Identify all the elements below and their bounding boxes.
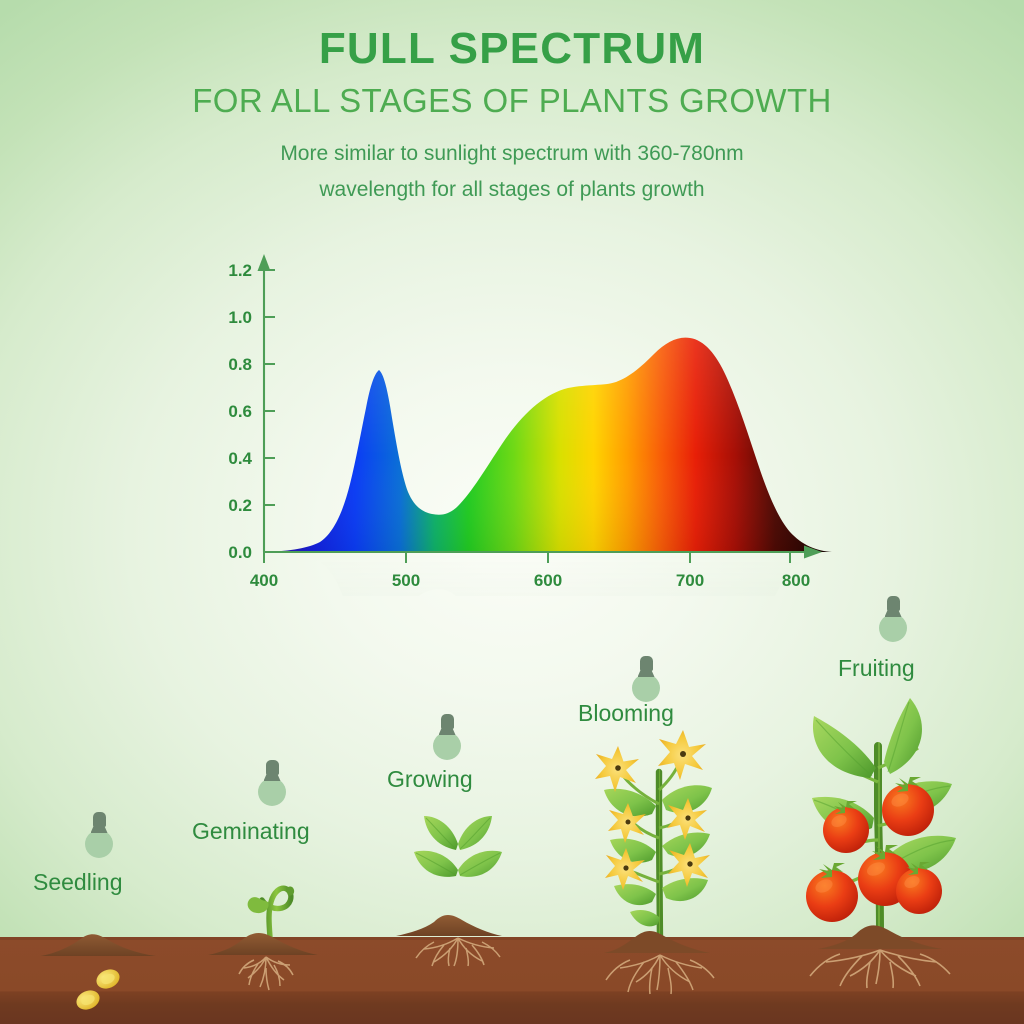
- y-tick-1: 0.2: [228, 496, 252, 515]
- x-tick-3: 700: [676, 571, 704, 590]
- stage-label-seedling: Seedling: [33, 869, 123, 896]
- plant-flowering: [560, 742, 760, 957]
- y-tick-3: 0.6: [228, 402, 252, 421]
- infographic-root: FULL SPECTRUM FOR ALL STAGES OF PLANTS G…: [0, 0, 1024, 1024]
- soil-mound: [40, 934, 156, 956]
- y-axis-tick-labels: 0.0 0.2 0.4 0.6 0.8 1.0 1.2: [228, 261, 252, 562]
- stem: [659, 772, 660, 942]
- cotyledon: [248, 897, 269, 913]
- stage-label-fruiting: Fruiting: [838, 655, 915, 682]
- plant-sprout-with-roots: [198, 858, 358, 998]
- root-system: [239, 957, 293, 990]
- y-tick-4: 0.8: [228, 355, 252, 374]
- soil-mound: [818, 925, 942, 949]
- x-tick-1: 500: [392, 571, 420, 590]
- stage-label-blooming: Blooming: [578, 700, 674, 727]
- stem: [878, 746, 880, 936]
- description-line-1: More similar to sunlight spectrum with 3…: [0, 137, 1024, 171]
- header: FULL SPECTRUM FOR ALL STAGES OF PLANTS G…: [0, 26, 1024, 207]
- y-tick-5: 1.0: [228, 308, 252, 327]
- light-bulb-icon: [878, 596, 908, 642]
- x-tick-0: 400: [250, 571, 278, 590]
- seeds: [73, 966, 122, 1013]
- plant-seeds-in-soil: [20, 916, 190, 1024]
- y-tick-2: 0.4: [228, 449, 252, 468]
- root-system: [416, 938, 500, 966]
- light-bulb-icon: [432, 714, 462, 760]
- spectrum-chart: 0.0 0.2 0.4 0.6 0.8 1.0 1.2 400 500 600 …: [196, 248, 836, 593]
- plant-young-leafy: [378, 796, 538, 966]
- spectrum-curve: [264, 338, 832, 552]
- tomato: [806, 863, 858, 922]
- soil-mound: [604, 931, 710, 953]
- page-title: FULL SPECTRUM: [0, 26, 1024, 72]
- stage-label-geminating: Geminating: [192, 818, 310, 845]
- sprout-stem: [262, 888, 291, 937]
- light-bulb-icon: [631, 656, 661, 702]
- y-tick-6: 1.2: [228, 261, 252, 280]
- stage-label-growing: Growing: [387, 766, 473, 793]
- light-bulb-icon: [257, 760, 287, 806]
- description-line-2: wavelength for all stages of plants grow…: [0, 173, 1024, 207]
- y-tick-0: 0.0: [228, 543, 252, 562]
- plant-tomato: [778, 690, 1024, 952]
- soil-mound: [208, 933, 318, 955]
- x-tick-4: 800: [782, 571, 810, 590]
- light-bulb-icon: [84, 812, 114, 858]
- soil-mound: [396, 915, 502, 936]
- page-subtitle: FOR ALL STAGES OF PLANTS GROWTH: [0, 80, 1024, 121]
- x-tick-2: 600: [534, 571, 562, 590]
